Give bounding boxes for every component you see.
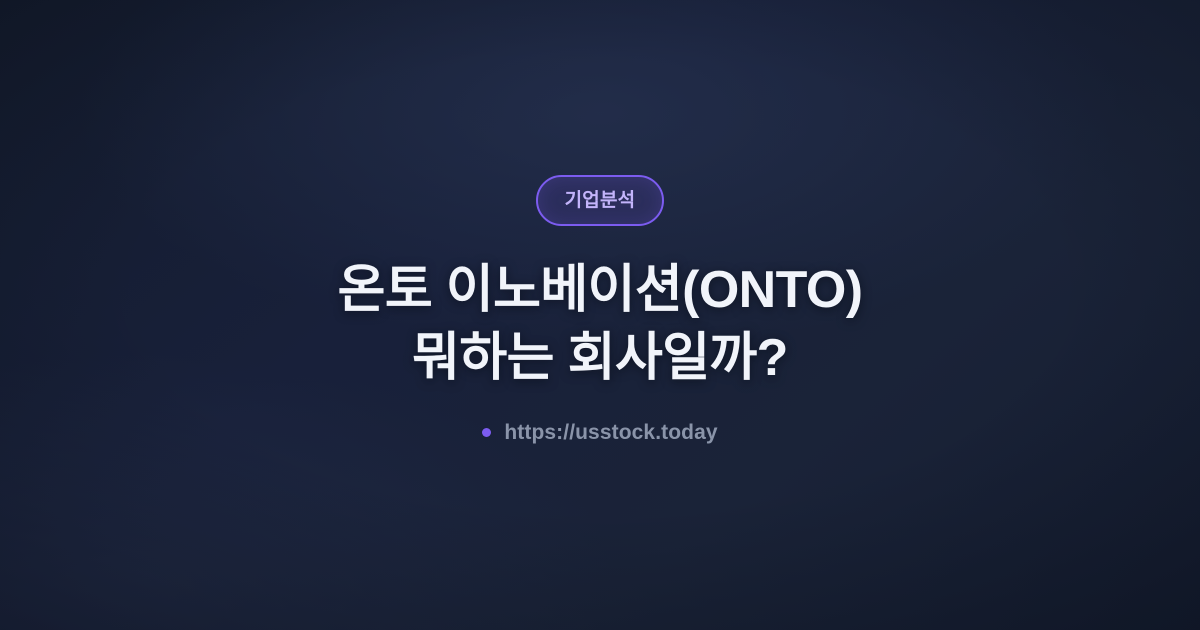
bullet-dot-icon: [482, 428, 491, 437]
category-badge-label: 기업분석: [565, 191, 636, 210]
og-card: 기업분석 온토 이노베이션(ONTO) 뭐하는 회사일까? https://us…: [0, 0, 1200, 630]
site-url-text: https://usstock.today: [504, 422, 717, 443]
page-title-line-2: 뭐하는 회사일까?: [338, 324, 863, 392]
page-title: 온토 이노베이션(ONTO) 뭐하는 회사일까?: [338, 256, 863, 392]
page-title-line-1: 온토 이노베이션(ONTO): [338, 256, 863, 324]
site-url: https://usstock.today: [482, 422, 717, 443]
category-badge: 기업분석: [536, 175, 665, 226]
card-content: 기업분석 온토 이노베이션(ONTO) 뭐하는 회사일까? https://us…: [0, 175, 1200, 443]
